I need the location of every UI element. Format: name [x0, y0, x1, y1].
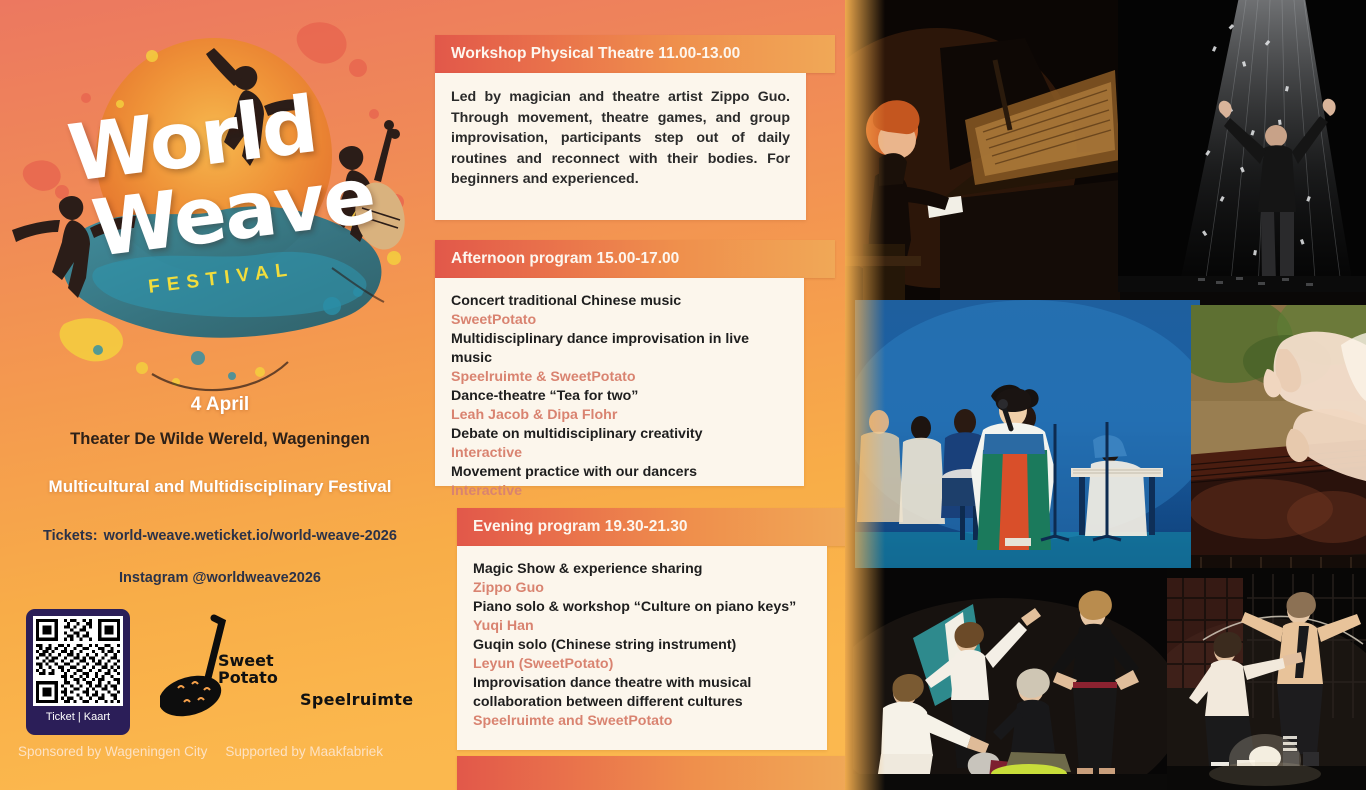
program-act: Multidisciplinary dance improvisation in… — [451, 330, 788, 368]
card-afternoon-title: Afternoon program 15.00-17.00 — [435, 240, 835, 278]
left-panel: World Weave FESTIVAL 4 April Theater De … — [0, 0, 850, 790]
festival-tagline: Multicultural and Multidisciplinary Fest… — [0, 477, 440, 497]
program-act: Piano solo & workshop “Culture on piano … — [473, 598, 811, 617]
program-performer: Interactive — [451, 444, 788, 463]
festival-venue: Theater De Wilde Wereld, Wageningen — [0, 430, 440, 449]
festival-poster: World Weave FESTIVAL 4 April Theater De … — [0, 0, 1366, 790]
photo-performer-under-spotlight — [1118, 0, 1366, 292]
program-act: Improvisation dance theatre with musical… — [473, 674, 811, 712]
photo-duo-physical-theatre — [1167, 568, 1366, 790]
card-evening-title: Evening program 19.30-21.30 — [457, 508, 847, 546]
photo-pianist-at-grand-piano — [845, 0, 1120, 300]
sweet-potato-logo-text: Sweet Potato — [218, 652, 278, 686]
card-workshop: Workshop Physical Theatre 11.00-13.00 Le… — [435, 35, 835, 220]
world-weave-logo-artwork — [2, 6, 432, 396]
program-performer: Speelruimte & SweetPotato — [451, 368, 788, 387]
card-workshop-body: Led by magician and theatre artist Zippo… — [435, 73, 806, 220]
qr-code-image — [33, 616, 123, 706]
program-act: Movement practice with our dancers — [451, 463, 788, 482]
speelruimte-logo-text: Speelruimte — [300, 690, 413, 709]
qr-caption: Ticket | Kaart — [33, 706, 123, 728]
card-workshop-description: Led by magician and theatre artist Zippo… — [451, 87, 790, 190]
program-act: Magic Show & experience sharing — [473, 560, 811, 579]
photo-chinese-ensemble-on-stage — [855, 300, 1200, 568]
card-evening-body: Magic Show & experience sharing Zippo Gu… — [457, 546, 827, 750]
card-next-partial — [457, 756, 847, 790]
festival-date: 4 April — [0, 394, 440, 416]
card-workshop-title: Workshop Physical Theatre 11.00-13.00 — [435, 35, 835, 73]
program-cards: Workshop Physical Theatre 11.00-13.00 Le… — [435, 0, 845, 790]
program-act: Debate on multidisciplinary creativity — [451, 425, 788, 444]
program-performer: Zippo Guo — [473, 579, 811, 598]
program-performer: Leyun (SweetPotato) — [473, 655, 811, 674]
photo-hands-playing-guqin — [1191, 305, 1366, 590]
program-performer: Leah Jacob & Dipa Flohr — [451, 406, 788, 425]
supported-by-text: Supported by Maakfabriek — [225, 744, 383, 759]
program-performer: SweetPotato — [451, 311, 788, 330]
card-afternoon-body: Concert traditional Chinese music SweetP… — [435, 278, 804, 486]
photo-collage — [845, 0, 1366, 790]
tickets-line: Tickets:world-weave.weticket.io/world-we… — [0, 528, 440, 544]
instagram-handle[interactable]: Instagram @worldweave2026 — [0, 570, 440, 586]
sponsor-credits: Sponsored by Wageningen CitySupported by… — [18, 744, 448, 759]
photo-dance-theatre-group — [853, 568, 1171, 790]
program-act: Guqin solo (Chinese string instrument) — [473, 636, 811, 655]
sponsored-by-text: Sponsored by Wageningen City — [18, 744, 207, 759]
card-evening: Evening program 19.30-21.30 Magic Show &… — [457, 508, 847, 750]
program-performer: Interactive — [451, 482, 788, 501]
left-content-column: World Weave FESTIVAL 4 April Theater De … — [0, 0, 440, 790]
program-performer: Speelruimte and SweetPotato — [473, 712, 811, 731]
program-performer: Yuqi Han — [473, 617, 811, 636]
sweet-potato-line-2: Potato — [218, 669, 278, 686]
tickets-label: Tickets: — [43, 528, 98, 544]
card-next-partial-title — [457, 756, 847, 790]
ticket-qr-code[interactable]: Ticket | Kaart — [26, 609, 130, 735]
tickets-url-link[interactable]: world-weave.weticket.io/world-weave-2026 — [104, 528, 397, 544]
program-act: Dance-theatre “Tea for two” — [451, 387, 788, 406]
card-afternoon: Afternoon program 15.00-17.00 Concert tr… — [435, 240, 835, 486]
sweet-potato-line-1: Sweet — [218, 652, 278, 669]
program-act: Concert traditional Chinese music — [451, 292, 788, 311]
